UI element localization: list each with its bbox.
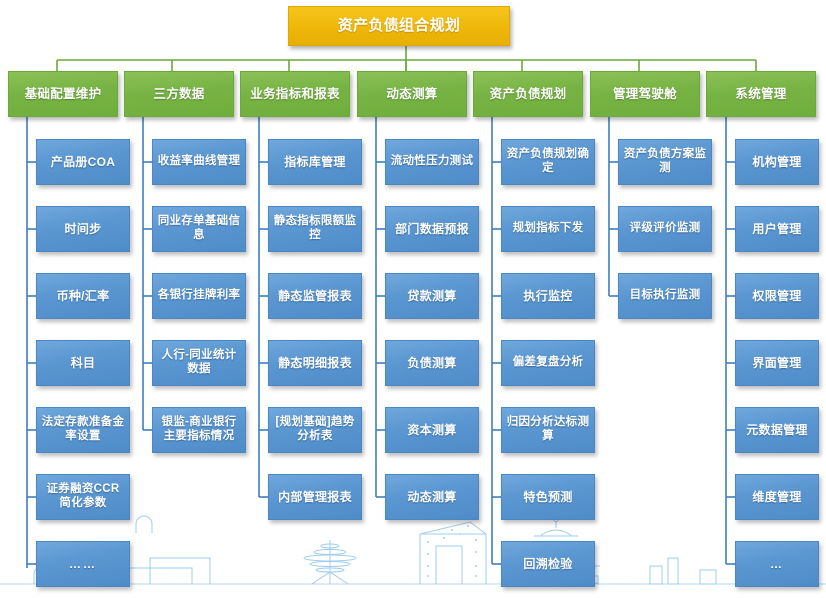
leaf-col-6-2[interactable]: 目标执行监测 bbox=[618, 273, 712, 319]
leaf-col-3-3[interactable]: 静态明细报表 bbox=[268, 340, 362, 386]
leaf-col-4-4[interactable]: 资本测算 bbox=[385, 407, 479, 453]
leaf-col-4-1[interactable]: 部门数据预报 bbox=[385, 206, 479, 252]
header-node-col-3[interactable]: 业务指标和报表 bbox=[240, 71, 350, 117]
header-node-col-4[interactable]: 动态测算 bbox=[357, 71, 467, 117]
leaf-col-7-0[interactable]: 机构管理 bbox=[735, 139, 819, 185]
leaf-col-4-3[interactable]: 负债测算 bbox=[385, 340, 479, 386]
leaf-col-1-5[interactable]: 证券融资CCR简化参数 bbox=[36, 474, 130, 520]
leaf-col-3-1[interactable]: 静态指标限额监控 bbox=[268, 206, 362, 252]
leaf-col-3-2[interactable]: 静态监管报表 bbox=[268, 273, 362, 319]
leaf-col-2-4[interactable]: 银监-商业银行主要指标情况 bbox=[152, 407, 246, 453]
root-node[interactable]: 资产负债组合规划 bbox=[288, 6, 510, 46]
leaf-col-7-2[interactable]: 权限管理 bbox=[735, 273, 819, 319]
leaf-col-1-6[interactable]: …… bbox=[36, 541, 130, 587]
leaf-col-2-2[interactable]: 各银行挂牌利率 bbox=[152, 273, 246, 319]
leaf-col-3-4[interactable]: [规划基础]趋势分析表 bbox=[268, 407, 362, 453]
leaf-col-7-5[interactable]: 维度管理 bbox=[735, 474, 819, 520]
diagram-canvas: 资产负债组合规划 基础配置维护 三方数据 业务指标和报表 动态测算 资产负债规划… bbox=[0, 0, 826, 598]
leaf-col-5-1[interactable]: 规划指标下发 bbox=[501, 206, 595, 252]
leaf-col-3-0[interactable]: 指标库管理 bbox=[268, 139, 362, 185]
leaf-col-6-0[interactable]: 资产负债方案监测 bbox=[618, 139, 712, 185]
leaf-col-1-1[interactable]: 时间步 bbox=[36, 206, 130, 252]
leaf-col-2-3[interactable]: 人行-同业统计数据 bbox=[152, 340, 246, 386]
leaf-col-5-0[interactable]: 资产负债规划确定 bbox=[501, 139, 595, 185]
header-node-col-7[interactable]: 系统管理 bbox=[706, 71, 816, 117]
leaf-col-5-3[interactable]: 偏差复盘分析 bbox=[501, 340, 595, 386]
leaf-col-7-6[interactable]: … bbox=[735, 541, 819, 587]
leaf-col-1-2[interactable]: 币种/汇率 bbox=[36, 273, 130, 319]
leaf-col-3-5[interactable]: 内部管理报表 bbox=[268, 474, 362, 520]
leaf-col-5-5[interactable]: 特色预测 bbox=[501, 474, 595, 520]
leaf-col-5-2[interactable]: 执行监控 bbox=[501, 273, 595, 319]
leaf-col-1-3[interactable]: 科目 bbox=[36, 340, 130, 386]
leaf-col-2-0[interactable]: 收益率曲线管理 bbox=[152, 139, 246, 185]
header-node-col-1[interactable]: 基础配置维护 bbox=[8, 71, 118, 117]
leaf-col-1-0[interactable]: 产品册COA bbox=[36, 139, 130, 185]
leaf-col-7-3[interactable]: 界面管理 bbox=[735, 340, 819, 386]
header-node-col-2[interactable]: 三方数据 bbox=[124, 71, 234, 117]
header-node-col-6[interactable]: 管理驾驶舱 bbox=[590, 71, 700, 117]
leaf-col-6-1[interactable]: 评级评价监测 bbox=[618, 206, 712, 252]
leaf-col-4-0[interactable]: 流动性压力测试 bbox=[385, 139, 479, 185]
leaf-col-2-1[interactable]: 同业存单基础信息 bbox=[152, 206, 246, 252]
leaf-col-4-2[interactable]: 贷款测算 bbox=[385, 273, 479, 319]
leaf-col-7-4[interactable]: 元数据管理 bbox=[735, 407, 819, 453]
header-node-col-5[interactable]: 资产负债规划 bbox=[473, 71, 583, 117]
leaf-col-7-1[interactable]: 用户管理 bbox=[735, 206, 819, 252]
leaf-col-5-6[interactable]: 回溯检验 bbox=[501, 541, 595, 587]
leaf-col-1-4[interactable]: 法定存款准备金率设置 bbox=[36, 407, 130, 453]
leaf-col-5-4[interactable]: 归因分析达标测算 bbox=[501, 407, 595, 453]
leaf-col-4-5[interactable]: 动态测算 bbox=[385, 474, 479, 520]
